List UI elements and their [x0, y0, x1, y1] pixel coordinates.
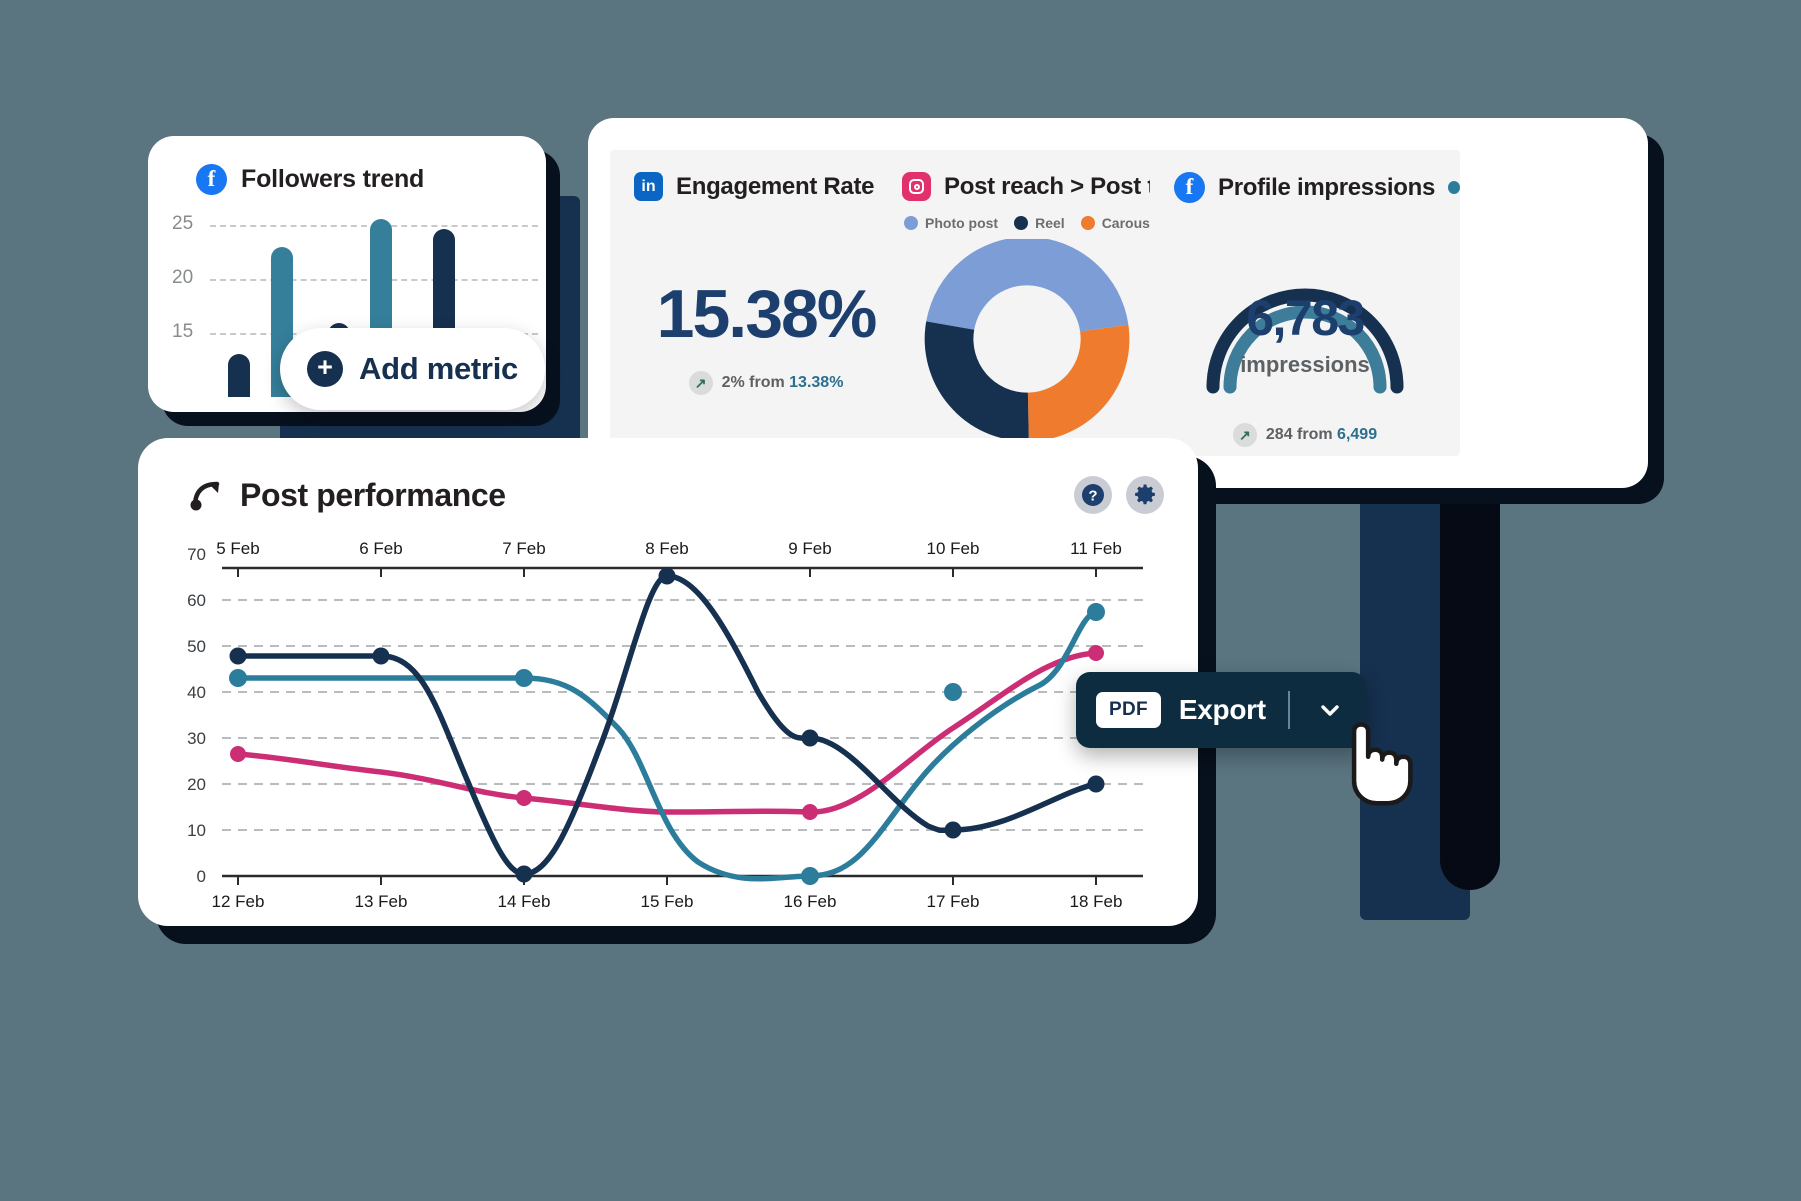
followers-card-header: f Followers trend	[148, 136, 546, 195]
hand-pointer-icon	[1333, 716, 1423, 806]
engagement-panel-title: Engagement Rate	[676, 173, 874, 201]
xtick-bottom-15feb: 15 Feb	[641, 892, 694, 911]
followers-ytick-20: 20	[172, 267, 193, 289]
pdf-format-badge[interactable]: PDF	[1096, 692, 1161, 728]
ytick-20: 20	[187, 775, 206, 794]
export-label: Export	[1179, 694, 1266, 726]
xtick-bottom-18feb: 18 Feb	[1070, 892, 1123, 911]
engagement-delta-change: 2% from	[722, 374, 790, 391]
xtick-top-7feb: 7 Feb	[502, 539, 545, 558]
engagement-delta-previous: 13.38%	[789, 374, 843, 391]
xtick-bottom-14feb: 14 Feb	[498, 892, 551, 911]
xtick-top-11feb: 11 Feb	[1070, 539, 1122, 558]
legend-swatch	[1081, 216, 1095, 230]
xtick-bottom-16feb: 16 Feb	[784, 892, 837, 911]
export-divider	[1288, 691, 1290, 729]
series-points-pink	[230, 645, 1104, 820]
series-line-teal	[238, 612, 1096, 879]
ytick-60: 60	[187, 591, 206, 610]
metrics-dashboard-card: in Engagement Rate 15.38% ↗ 2% from 13.3…	[588, 118, 1648, 488]
ytick-40: 40	[187, 683, 206, 702]
post-reach-panel: Post reach > Post type Photo post Reel C…	[878, 150, 1176, 456]
post-performance-header: Post performance ?	[138, 438, 1198, 514]
xtick-bottom-12feb: 12 Feb	[212, 892, 265, 911]
xtick-top-6feb: 6 Feb	[359, 539, 402, 558]
xtick-top-8feb: 8 Feb	[645, 539, 688, 558]
post-reach-donut-chart	[878, 239, 1176, 449]
xtick-bottom-13feb: 13 Feb	[355, 892, 408, 911]
status-dot-icon	[1448, 181, 1460, 194]
post-performance-title: Post performance	[240, 477, 506, 514]
gear-icon[interactable]	[1126, 476, 1164, 514]
impressions-unit: impressions	[1240, 352, 1370, 377]
donut-slice-carousel	[1028, 325, 1130, 442]
donut-slice-reel	[925, 321, 1029, 441]
post-performance-card: Post performance ?	[138, 438, 1198, 926]
impressions-gauge-chart: 6,783 impressions	[1150, 209, 1460, 409]
instagram-icon	[902, 172, 931, 201]
xtick-top-9feb: 9 Feb	[788, 539, 831, 558]
legend-label: Photo post	[925, 215, 998, 231]
dashboard-composite: f Followers trend 25 20 15 in Engagement…	[0, 0, 1801, 1201]
followers-card-title: Followers trend	[241, 165, 424, 194]
impressions-value: 6,783	[1246, 290, 1364, 346]
engagement-delta-text: 2% from 13.38%	[722, 374, 844, 392]
donut-slice-photo-post	[926, 239, 1128, 332]
ytick-70: 70	[187, 545, 206, 564]
post-reach-panel-header: Post reach > Post type	[878, 150, 1176, 201]
add-metric-button[interactable]: + Add metric	[280, 328, 545, 410]
engagement-panel-header: in Engagement Rate	[610, 150, 922, 201]
help-circle-icon[interactable]: ?	[1074, 476, 1112, 514]
trend-arrow-icon	[190, 478, 224, 512]
ytick-30: 30	[187, 729, 206, 748]
xtick-bottom-17feb: 17 Feb	[927, 892, 980, 911]
facebook-icon: f	[1174, 172, 1205, 203]
impressions-panel-header: f Profile impressions	[1150, 150, 1460, 203]
ytick-50: 50	[187, 637, 206, 656]
legend-item-photo-post: Photo post	[904, 215, 998, 231]
post-performance-line-chart: 70 60 50 40 30 20 10 0 5 Feb 6 Feb 7 Feb…	[138, 532, 1198, 922]
followers-ytick-25: 25	[172, 213, 193, 235]
export-button[interactable]: PDF Export	[1076, 672, 1366, 748]
profile-impressions-panel: f Profile impressions 6,783 impressions …	[1150, 150, 1460, 456]
legend-label: Reel	[1035, 215, 1065, 231]
impressions-delta-change: 284 from	[1266, 426, 1337, 443]
linkedin-icon: in	[634, 172, 663, 201]
impressions-delta-previous: 6,499	[1337, 426, 1377, 443]
post-performance-actions: ?	[1074, 476, 1164, 514]
engagement-delta: ↗ 2% from 13.38%	[610, 371, 922, 395]
post-reach-legend: Photo post Reel Carousel	[878, 201, 1176, 231]
followers-bar	[228, 354, 250, 397]
ytick-10: 10	[187, 821, 206, 840]
facebook-icon: f	[196, 164, 227, 195]
xtick-top-10feb: 10 Feb	[927, 539, 980, 558]
legend-swatch	[1014, 216, 1028, 230]
xtick-top-5feb: 5 Feb	[216, 539, 259, 558]
impressions-delta-text: 284 from 6,499	[1266, 426, 1377, 444]
engagement-rate-panel: in Engagement Rate 15.38% ↗ 2% from 13.3…	[610, 150, 922, 456]
ytick-0: 0	[197, 867, 206, 886]
engagement-rate-value: 15.38%	[610, 275, 922, 353]
svg-text:?: ?	[1088, 488, 1097, 505]
impressions-panel-title: Profile impressions	[1218, 174, 1435, 202]
plus-circle-icon: +	[307, 351, 343, 387]
legend-item-reel: Reel	[1014, 215, 1065, 231]
legend-swatch	[904, 216, 918, 230]
series-points-teal	[229, 603, 1105, 885]
followers-ytick-15: 15	[172, 321, 193, 343]
add-metric-label: Add metric	[359, 351, 518, 387]
trend-up-icon: ↗	[689, 371, 713, 395]
trend-up-icon: ↗	[1233, 423, 1257, 447]
